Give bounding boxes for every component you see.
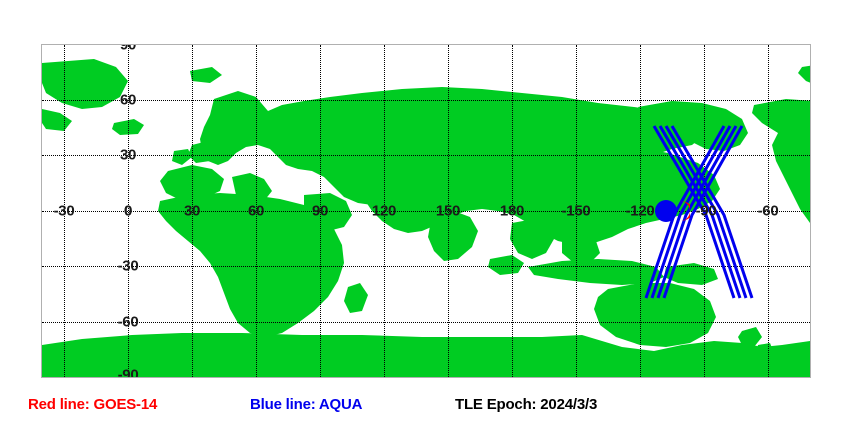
lat-label-90: 90 bbox=[120, 44, 136, 54]
lon-label--150: -150 bbox=[562, 203, 591, 220]
legend-aqua-entry: Blue line: AQUA bbox=[250, 396, 362, 413]
legend-goes-entry: Red line: GOES-14 bbox=[28, 396, 157, 413]
legend: Red line: GOES-14 Blue line: AQUA TLE Ep… bbox=[0, 396, 850, 420]
legend-tle-epoch: TLE Epoch: 2024/3/3 bbox=[455, 396, 597, 413]
lat-label--60: -60 bbox=[118, 314, 139, 331]
lon-label-120: 120 bbox=[372, 203, 396, 220]
goes-position-marker[interactable] bbox=[670, 201, 690, 221]
lat-label-60: 60 bbox=[120, 92, 136, 109]
lon-label-90: 90 bbox=[312, 203, 328, 220]
lat-label-0: 0 bbox=[124, 203, 132, 220]
satellite-tracker-page: -30 0 30 60 90 120 150 180 -150 -120 -90… bbox=[0, 0, 850, 425]
lat-label--90: -90 bbox=[118, 367, 139, 379]
lon-label-30: 30 bbox=[184, 203, 200, 220]
lat-label--30: -30 bbox=[118, 258, 139, 275]
world-map[interactable]: -30 0 30 60 90 120 150 180 -150 -120 -90… bbox=[41, 44, 811, 378]
lon-label--60: -60 bbox=[758, 203, 779, 220]
lon-label-60: 60 bbox=[248, 203, 264, 220]
lat-label-30: 30 bbox=[120, 147, 136, 164]
map-canvas: -30 0 30 60 90 120 150 180 -150 -120 -90… bbox=[42, 45, 810, 377]
lon-label-180: 180 bbox=[500, 203, 524, 220]
lon-label--120: -120 bbox=[626, 203, 655, 220]
lon-label--30: -30 bbox=[54, 203, 75, 220]
lon-label-150: 150 bbox=[436, 203, 460, 220]
lon-label--90: -90 bbox=[696, 203, 717, 220]
